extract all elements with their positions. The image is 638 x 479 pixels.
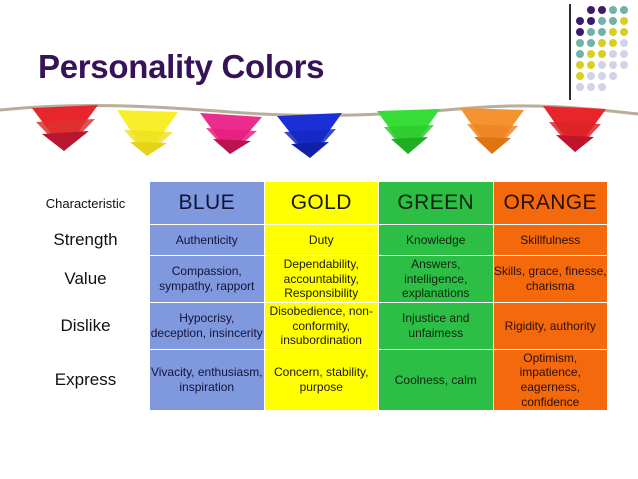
decorative-dot [587,6,595,14]
decorative-dot [598,28,606,36]
decorative-dot [587,72,595,80]
decorative-dot [598,61,606,69]
column-header-orange: ORANGE [493,182,608,225]
page-title: Personality Colors [38,48,324,86]
cell-strength-green: Knowledge [379,225,494,256]
row-label-strength: Strength [26,225,150,256]
decorative-dot [576,28,584,36]
table-header-row: Characteristic BLUE GOLD GREEN ORANGE [26,182,608,225]
decorative-dot [620,17,628,25]
column-header-green: GREEN [379,182,494,225]
table-row-strength: Strength Authenticity Duty Knowledge Ski… [26,225,608,256]
decorative-dot [587,50,595,58]
cell-express-green: Coolness, calm [379,350,494,411]
column-header-gold: GOLD [264,182,379,225]
logo-divider-line [569,4,571,100]
decorative-dot [576,72,584,80]
decorative-dot [598,39,606,47]
column-header-blue: BLUE [150,182,265,225]
decorative-dot [609,39,617,47]
cell-dislike-gold: Disobedience, non-conformity, insubordin… [264,303,379,350]
table-row-dislike: Dislike Hypocrisy, deception, insincerit… [26,303,608,350]
decorative-dot [576,83,584,91]
cell-express-gold: Concern, stability, purpose [264,350,379,411]
decorative-dot [576,39,584,47]
decorative-dot [609,72,617,80]
decorative-dot [598,83,606,91]
cell-value-green: Answers, intelligence, explanations [379,256,494,303]
decorative-dot [598,72,606,80]
decorative-dot [609,61,617,69]
bunting-flags-decoration [0,92,638,172]
decorative-dot [620,39,628,47]
decorative-dot [587,28,595,36]
decorative-dot [609,28,617,36]
table-row-express: Express Vivacity, enthusiasm, inspiratio… [26,350,608,411]
decorative-dot [620,50,628,58]
cell-value-orange: Skills, grace, finesse, charisma [493,256,608,303]
cell-dislike-green: Injustice and unfaimess [379,303,494,350]
decorative-dot [576,50,584,58]
decorative-dot [598,17,606,25]
decorative-dot [587,17,595,25]
cell-express-blue: Vivacity, enthusiasm, inspiration [150,350,265,411]
dot-grid-decoration [576,6,632,98]
decorative-dot [609,50,617,58]
row-label-dislike: Dislike [26,303,150,350]
decorative-dot [620,6,628,14]
decorative-dot [598,6,606,14]
decorative-dot [587,39,595,47]
personality-colors-table: Characteristic BLUE GOLD GREEN ORANGE St… [26,181,608,411]
cell-dislike-blue: Hypocrisy, deception, insincerity [150,303,265,350]
decorative-dot [620,28,628,36]
row-label-characteristic: Characteristic [26,182,150,225]
decorative-dot [576,17,584,25]
cell-express-orange: Optimism, impatience, eagerness, confide… [493,350,608,411]
decorative-dot [576,61,584,69]
decorative-dot [620,61,628,69]
decorative-dot [598,50,606,58]
row-label-express: Express [26,350,150,411]
cell-value-gold: Dependability, accountability, Responsib… [264,256,379,303]
decorative-dot [609,17,617,25]
decorative-dot [587,83,595,91]
decorative-dot [609,6,617,14]
table-row-value: Value Compassion, sympathy, rapport Depe… [26,256,608,303]
cell-strength-orange: Skillfulness [493,225,608,256]
cell-dislike-orange: Rigidity, authority [493,303,608,350]
cell-strength-gold: Duty [264,225,379,256]
row-label-value: Value [26,256,150,303]
cell-value-blue: Compassion, sympathy, rapport [150,256,265,303]
decorative-dot [587,61,595,69]
cell-strength-blue: Authenticity [150,225,265,256]
